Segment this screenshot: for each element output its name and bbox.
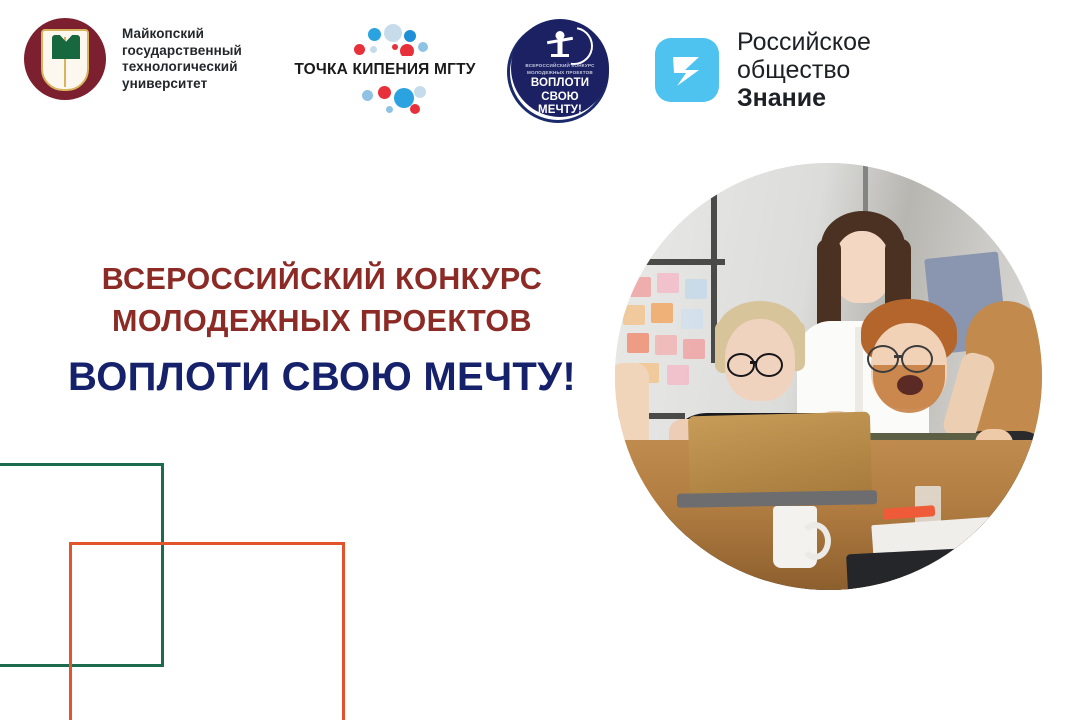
- badge-title-line-1: ВОПЛОТИ СВОЮ: [511, 77, 609, 104]
- mgtu-shield-emblem-icon: [24, 18, 106, 100]
- headline-block: ВСЕРОССИЙСКИЙ КОНКУРС МОЛОДЕЖНЫХ ПРОЕКТО…: [62, 258, 582, 400]
- photo-laptop-screen: [688, 412, 872, 501]
- photo-tablet: [846, 546, 1018, 590]
- badge-person-legs-icon: [551, 54, 569, 57]
- photo-mug: [773, 506, 817, 568]
- headline-line-3: ВОПЛОТИ СВОЮ МЕЧТУ!: [62, 354, 582, 400]
- team-celebration-photo: [615, 163, 1042, 590]
- badge-title: ВОПЛОТИ СВОЮ МЕЧТУ!: [511, 77, 609, 117]
- headline-line-2: МОЛОДЕЖНЫХ ПРОЕКТОВ: [62, 300, 582, 342]
- mgtu-line-1: Майкопский: [122, 26, 242, 43]
- mgtu-line-4: университет: [122, 76, 242, 93]
- mgtu-line-3: технологический: [122, 59, 242, 76]
- badge-subtitle-line-1: ВСЕРОССИЙСКИЙ КОНКУРС: [511, 63, 609, 70]
- znanie-line-2: общество: [737, 56, 871, 84]
- mgtu-open-book-icon: [52, 35, 80, 59]
- logo-mgtu-text: Майкопский государственный технологическ…: [122, 26, 242, 92]
- logo-bar: Майкопский государственный технологическ…: [0, 0, 1075, 140]
- mgtu-line-2: государственный: [122, 43, 242, 60]
- znanie-line-1: Российское: [737, 28, 871, 56]
- presentation-slide: Майкопский государственный технологическ…: [0, 0, 1075, 720]
- znanie-line-3: Знание: [737, 84, 871, 112]
- logo-mgtu: Майкопский государственный технологическ…: [24, 18, 242, 100]
- contest-badge-icon: ВСЕРОССИЙСКИЙ КОНКУРС МОЛОДЕЖНЫХ ПРОЕКТО…: [511, 19, 609, 117]
- badge-subtitle: ВСЕРОССИЙСКИЙ КОНКУРС МОЛОДЕЖНЫХ ПРОЕКТО…: [511, 63, 609, 76]
- logo-znanie-text: Российское общество Знание: [737, 28, 871, 112]
- badge-person-head-icon: [556, 31, 565, 40]
- tochka-kipeniya-label: ТОЧКА КИПЕНИЯ МГТУ: [294, 61, 475, 79]
- mgtu-shield-shape: [41, 29, 89, 91]
- photo-beam: [615, 259, 725, 265]
- znanie-z-mark-icon: [655, 38, 719, 102]
- logo-contest-badge: ВСЕРОССИЙСКИЙ КОНКУРС МОЛОДЕЖНЫХ ПРОЕКТО…: [505, 18, 613, 130]
- headline-line-1: ВСЕРОССИЙСКИЙ КОНКУРС: [62, 258, 582, 300]
- logo-znanie: Российское общество Знание: [655, 28, 871, 112]
- logo-tochka-kipeniya: ТОЧКА КИПЕНИЯ МГТУ: [285, 22, 485, 118]
- badge-title-line-2: МЕЧТУ!: [511, 104, 609, 117]
- decorative-orange-rectangle: [69, 542, 345, 720]
- badge-subtitle-line-2: МОЛОДЕЖНЫХ ПРОЕКТОВ: [511, 70, 609, 77]
- tochka-kipeniya-label-band: ТОЧКА КИПЕНИЯ МГТУ: [285, 56, 485, 84]
